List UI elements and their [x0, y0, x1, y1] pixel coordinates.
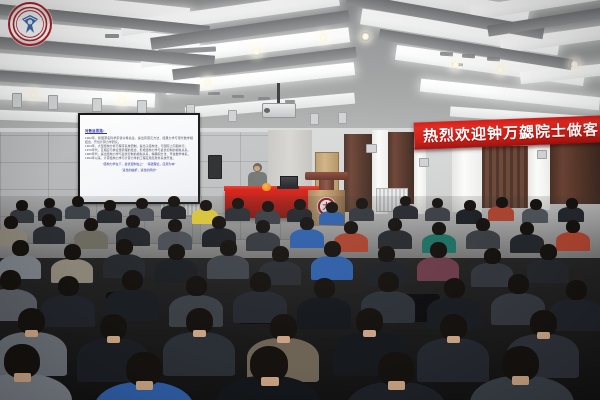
ceiling-speaker — [228, 110, 237, 122]
person-head — [530, 199, 542, 210]
slide-paragraph: 1994年以来，计算结构力学与计算力学的工程应用及软件系统开发。 — [85, 157, 193, 161]
person-shoulders — [425, 207, 450, 221]
person-head — [272, 246, 289, 262]
wood-wall-panel — [550, 142, 600, 204]
person-head — [72, 196, 84, 207]
person-head — [12, 240, 29, 256]
person-head — [104, 200, 116, 211]
person-head — [508, 274, 529, 294]
person-head — [168, 244, 185, 260]
person-head — [388, 218, 402, 231]
wall-speaker — [419, 158, 429, 167]
person-shoulders — [207, 255, 249, 279]
wall-speaker — [537, 150, 547, 159]
person-shoulders — [161, 205, 186, 219]
projection-screen: 对数运思路： 1962年，我国著名科学家钱令希先生，提出有限元方法，经典力学与现… — [78, 113, 200, 204]
person-head — [212, 216, 226, 229]
person-neck — [25, 330, 38, 337]
person-head — [262, 201, 274, 212]
person-head — [444, 278, 465, 298]
person-head — [430, 242, 447, 258]
ceiling-vent — [105, 34, 119, 38]
person-shoulders — [466, 230, 500, 249]
wall-speaker — [366, 144, 377, 153]
person-head — [4, 216, 18, 229]
person-head — [344, 221, 358, 234]
ceiling-vent — [163, 36, 173, 40]
slide-title: 对数运思路： — [85, 129, 107, 134]
person-shoulders — [311, 256, 353, 280]
person-head — [44, 198, 55, 208]
person-head — [84, 218, 98, 231]
person-head — [324, 241, 341, 257]
downlight-icon — [29, 90, 38, 99]
ceiling-vent — [487, 57, 500, 62]
person-shoulders — [488, 206, 514, 221]
person-head — [126, 215, 140, 228]
person-shoulders — [349, 207, 374, 221]
person-neck — [107, 336, 120, 343]
ceiling-vent — [462, 54, 475, 59]
person-head — [200, 200, 212, 211]
projector-lens-icon — [264, 108, 270, 113]
person-head — [378, 272, 399, 292]
downlight-icon — [570, 60, 579, 69]
banner-text: 热烈欢迎钟万勰院士做客 — [423, 119, 600, 147]
ceiling-speaker — [92, 98, 102, 112]
ceiling-vent — [208, 92, 220, 95]
person-shoulders — [97, 209, 122, 223]
person-neck — [363, 330, 376, 337]
downlight-icon — [451, 60, 460, 69]
ceiling-speaker — [338, 112, 347, 124]
person-neck — [14, 373, 31, 382]
seated-audience — [0, 196, 600, 400]
person-head — [314, 278, 335, 298]
person-head — [232, 198, 244, 209]
person-shoulders — [33, 226, 65, 244]
downlight-icon — [361, 32, 370, 41]
person-head — [400, 196, 411, 206]
downlight-icon — [496, 65, 505, 74]
person-head — [496, 197, 508, 208]
person-head — [116, 239, 133, 255]
person-head — [136, 198, 148, 209]
downlight-icon — [319, 33, 328, 42]
downlight-icon — [252, 47, 261, 56]
person-head — [566, 280, 587, 300]
person-head — [520, 222, 534, 235]
ceiling-vent — [232, 95, 244, 98]
person-head — [64, 244, 81, 260]
person-shoulders — [510, 234, 544, 253]
person-head — [484, 248, 501, 264]
person-shoulders — [163, 332, 235, 376]
person-head — [476, 218, 490, 231]
person-shoulders — [393, 205, 418, 219]
person-shoulders — [417, 338, 489, 382]
person-shoulders — [0, 374, 72, 400]
ceiling-vent — [440, 52, 453, 57]
person-shoulders — [41, 295, 95, 327]
person-head — [42, 214, 56, 227]
person-neck — [193, 330, 206, 337]
person-head — [432, 222, 446, 235]
person-head — [220, 240, 237, 256]
person-head — [464, 200, 476, 211]
person-head — [256, 220, 270, 233]
wall-speaker — [208, 155, 222, 179]
person-shoulders — [556, 232, 590, 251]
person-shoulders — [297, 297, 351, 329]
person-head — [58, 276, 79, 296]
speaker-face — [254, 166, 260, 171]
person-shoulders — [225, 207, 250, 221]
downlight-icon — [203, 78, 212, 87]
laptop-base — [277, 186, 299, 189]
slide-content: 对数运思路： 1962年，我国著名科学家钱令希先生，提出有限元方法，经典力学与现… — [80, 115, 198, 202]
person-head — [16, 200, 28, 211]
person-head — [250, 272, 271, 292]
ceiling-speaker — [137, 100, 147, 114]
person-head — [168, 219, 182, 232]
lecture-hall-photograph: 对数运思路： 1962年，我国著名科学家钱令希先生，提出有限元方法，经典力学与现… — [0, 0, 600, 400]
person-shoulders — [527, 259, 569, 283]
lectern-top — [305, 172, 348, 180]
projector-mount — [277, 83, 280, 104]
person-head — [378, 246, 395, 262]
person-shoulders — [522, 208, 548, 223]
flower-arrangement — [262, 183, 271, 191]
person-neck — [447, 336, 460, 343]
person-head — [566, 198, 578, 209]
person-shoulders — [319, 211, 344, 225]
person-neck — [136, 381, 153, 390]
ceiling-speaker — [310, 113, 319, 125]
person-head — [326, 202, 338, 213]
person-head — [300, 217, 314, 230]
person-neck — [388, 381, 405, 390]
person-head — [186, 276, 207, 296]
university-seal-watermark — [8, 2, 52, 46]
person-head — [566, 220, 580, 233]
person-shoulders — [290, 229, 324, 248]
ceiling-speaker — [12, 93, 22, 108]
slide-footer-line: “适当的曲折，适当的简约” — [85, 168, 193, 172]
person-neck — [277, 336, 290, 343]
slide-footer-line: “结构力学在下，最优控制在上” “基础理论，应用为本” — [85, 162, 193, 166]
ceiling-vent — [258, 97, 270, 100]
person-head — [356, 198, 368, 209]
person-head — [540, 244, 557, 260]
person-neck — [261, 377, 279, 386]
ceiling-speaker — [48, 95, 58, 110]
person-shoulders — [65, 205, 90, 219]
person-shoulders — [471, 263, 513, 287]
person-head — [294, 199, 306, 210]
person-head — [432, 198, 443, 208]
downlight-icon — [118, 96, 127, 105]
person-neck — [537, 332, 550, 339]
person-head — [0, 270, 21, 290]
person-neck — [512, 376, 529, 385]
person-head — [168, 196, 180, 207]
person-head — [122, 270, 143, 290]
